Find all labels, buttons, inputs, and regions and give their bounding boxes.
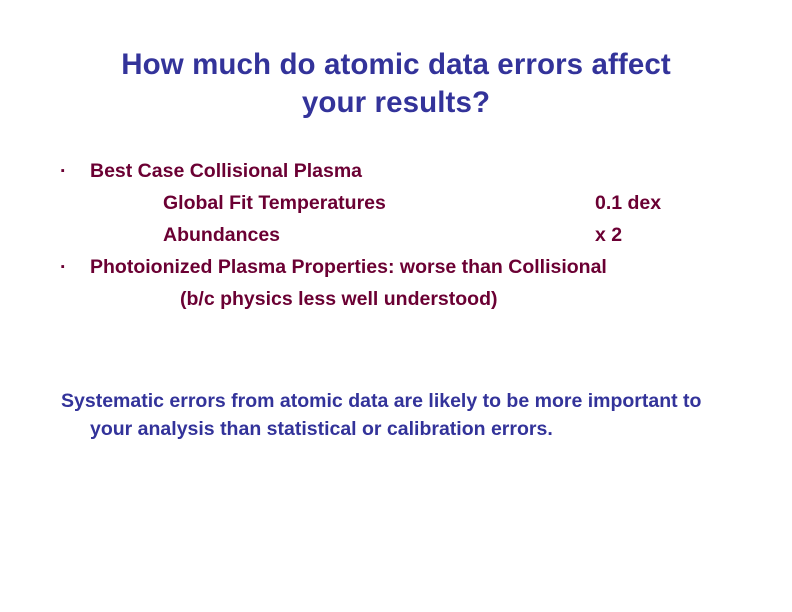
slide-title: How much do atomic data errors affect yo… (46, 46, 746, 122)
bullet-row: (b/c physics less well understood) (0, 283, 792, 315)
bullet-row-label: Abundances (163, 219, 280, 251)
bullet-point-icon: · (60, 155, 67, 187)
slide-title-line-2: your results? (46, 84, 746, 122)
bullet-row-label: (b/c physics less well understood) (180, 283, 498, 315)
bullet-row-label: Photoionized Plasma Properties: worse th… (90, 251, 607, 283)
bullet-row-value: x 2 (595, 219, 622, 251)
bullet-row: Abundancesx 2 (0, 219, 792, 251)
slide-body-list: ·Best Case Collisional PlasmaGlobal Fit … (0, 155, 792, 315)
bullet-row-label: Global Fit Temperatures (163, 187, 386, 219)
bullet-row: ·Photoionized Plasma Properties: worse t… (0, 251, 792, 283)
slide-title-line-1: How much do atomic data errors affect (46, 46, 746, 84)
bullet-row-value: 0.1 dex (595, 187, 661, 219)
presentation-slide: How much do atomic data errors affect yo… (0, 0, 792, 612)
bullet-row-label: Best Case Collisional Plasma (90, 155, 362, 187)
bullet-row: Global Fit Temperatures0.1 dex (0, 187, 792, 219)
bullet-point-icon: · (60, 251, 67, 283)
bullet-row: ·Best Case Collisional Plasma (0, 155, 792, 187)
slide-summary: Systematic errors from atomic data are l… (61, 387, 711, 443)
slide-summary-text: Systematic errors from atomic data are l… (61, 387, 711, 443)
